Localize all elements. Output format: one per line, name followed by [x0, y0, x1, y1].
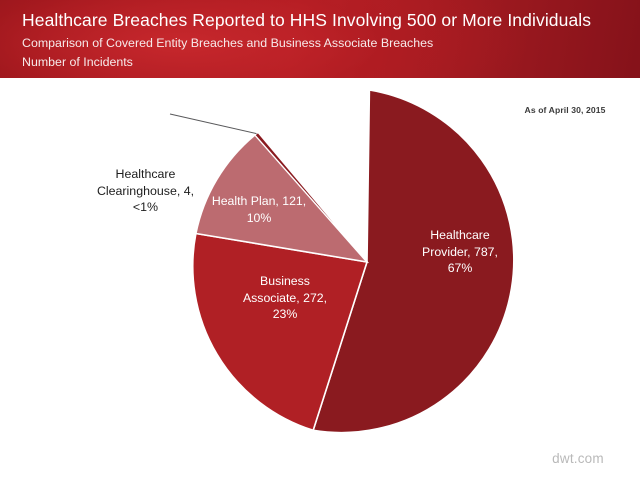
pie-label-healthcare-provider: Healthcare Provider, 787, 67%: [394, 227, 526, 277]
footer-brand: dwt.com: [530, 451, 626, 466]
page-subtitle-secondary: Number of Incidents: [22, 55, 622, 69]
clearinghouse-leader-line: [170, 114, 257, 134]
business-associate-label-line2: Associate, 272,: [219, 290, 351, 307]
clearinghouse-label-line1: Healthcare: [58, 166, 233, 183]
pie-chart-svg: [0, 78, 640, 448]
health-plan-label-line2: 10%: [193, 210, 325, 227]
healthcare-provider-label-line3: 67%: [394, 260, 526, 277]
slide-canvas: Healthcare Breaches Reported to HHS Invo…: [0, 0, 640, 480]
page-title: Healthcare Breaches Reported to HHS Invo…: [22, 10, 622, 31]
healthcare-provider-label-line1: Healthcare: [394, 227, 526, 244]
business-associate-label-line1: Business: [219, 273, 351, 290]
header-band: Healthcare Breaches Reported to HHS Invo…: [0, 0, 640, 78]
pie-label-health-plan: Health Plan, 121, 10%: [193, 193, 325, 226]
pie-chart: Healthcare Clearinghouse, 4, <1%: [0, 78, 640, 448]
business-associate-label-line3: 23%: [219, 306, 351, 323]
healthcare-provider-label-line2: Provider, 787,: [394, 244, 526, 261]
health-plan-label-line1: Health Plan, 121,: [193, 193, 325, 210]
pie-label-business-associate: Business Associate, 272, 23%: [219, 273, 351, 323]
page-subtitle-primary: Comparison of Covered Entity Breaches an…: [22, 36, 622, 50]
